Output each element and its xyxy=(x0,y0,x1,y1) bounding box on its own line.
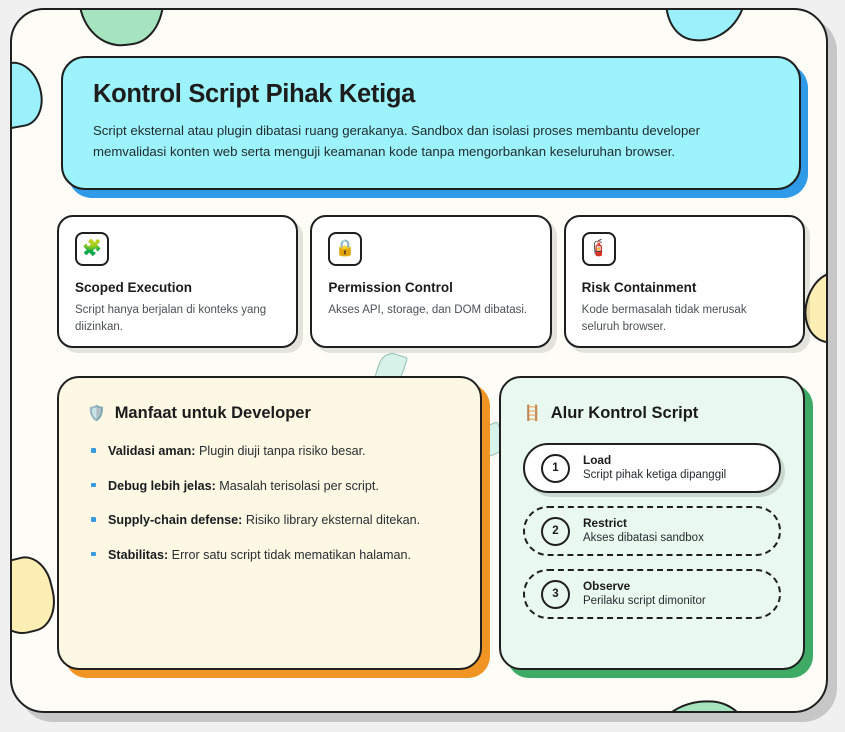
page-subtitle: Script eksternal atau plugin dibatasi ru… xyxy=(93,120,748,163)
flow-heading: 🪜 Alur Kontrol Script xyxy=(523,404,781,423)
poster-frame: Kontrol Script Pihak Ketiga Script ekste… xyxy=(10,8,828,713)
decoration-green-bottom xyxy=(650,697,751,713)
decoration-cyan-left xyxy=(10,58,47,133)
step-label: Load xyxy=(583,453,726,468)
benefits-heading: 🛡️ Manfaat untuk Developer xyxy=(87,404,452,423)
decoration-green-top xyxy=(77,8,169,50)
list-item: Stabilitas: Error satu script tidak mema… xyxy=(87,547,452,565)
feature-card-risk-containment: 🧯 Risk Containment Kode bermasalah tidak… xyxy=(564,215,805,348)
feature-card-permission-control: 🔒 Permission Control Akses API, storage,… xyxy=(310,215,551,348)
ladder-icon: 🪜 xyxy=(523,406,542,421)
puzzle-piece-icon: 🧩 xyxy=(75,232,109,266)
step-number-badge: 2 xyxy=(541,517,570,546)
step-description: Script pihak ketiga dipanggil xyxy=(583,468,726,483)
page-title: Kontrol Script Pihak Ketiga xyxy=(93,80,769,109)
feature-description: Script hanya berjalan di konteks yang di… xyxy=(75,302,280,335)
decoration-yellow-bottom-left xyxy=(10,551,62,641)
benefit-lead: Supply-chain defense: xyxy=(108,513,242,527)
step-text: Observe Perilaku script dimonitor xyxy=(583,579,706,609)
benefit-rest: Error satu script tidak mematikan halama… xyxy=(168,548,411,562)
flow-step-load: 1 Load Script pihak ketiga dipanggil xyxy=(523,443,781,493)
step-number-badge: 1 xyxy=(541,454,570,483)
step-label: Restrict xyxy=(583,516,704,531)
step-text: Load Script pihak ketiga dipanggil xyxy=(583,453,726,483)
feature-card-row: 🧩 Scoped Execution Script hanya berjalan… xyxy=(57,215,805,348)
list-item: Debug lebih jelas: Masalah terisolasi pe… xyxy=(87,478,452,496)
feature-description: Akses API, storage, dan DOM dibatasi. xyxy=(328,302,533,319)
flow-step-restrict: 2 Restrict Akses dibatasi sandbox xyxy=(523,506,781,556)
benefit-lead: Stabilitas: xyxy=(108,548,168,562)
shield-icon: 🛡️ xyxy=(87,406,106,421)
benefit-lead: Validasi aman: xyxy=(108,444,196,458)
step-text: Restrict Akses dibatasi sandbox xyxy=(583,516,704,546)
feature-title: Permission Control xyxy=(328,280,533,295)
list-item: Supply-chain defense: Risiko library eks… xyxy=(87,512,452,530)
lock-icon: 🔒 xyxy=(328,232,362,266)
benefit-lead: Debug lebih jelas: xyxy=(108,479,216,493)
benefits-list: Validasi aman: Plugin diuji tanpa risiko… xyxy=(87,443,452,565)
list-item: Validasi aman: Plugin diuji tanpa risiko… xyxy=(87,443,452,461)
header-banner: Kontrol Script Pihak Ketiga Script ekste… xyxy=(61,56,801,190)
benefit-rest: Masalah terisolasi per script. xyxy=(216,479,379,493)
fire-extinguisher-icon: 🧯 xyxy=(582,232,616,266)
step-label: Observe xyxy=(583,579,706,594)
flow-panel: 🪜 Alur Kontrol Script 1 Load Script piha… xyxy=(499,376,805,670)
flow-step-observe: 3 Observe Perilaku script dimonitor xyxy=(523,569,781,619)
benefit-rest: Plugin diuji tanpa risiko besar. xyxy=(196,444,366,458)
step-number-badge: 3 xyxy=(541,580,570,609)
benefit-rest: Risiko library eksternal ditekan. xyxy=(242,513,420,527)
feature-description: Kode bermasalah tidak merusak seluruh br… xyxy=(582,302,787,335)
benefits-heading-label: Manfaat untuk Developer xyxy=(115,404,311,423)
feature-title: Risk Containment xyxy=(582,280,787,295)
flow-heading-label: Alur Kontrol Script xyxy=(551,404,699,423)
step-description: Perilaku script dimonitor xyxy=(583,594,706,609)
feature-title: Scoped Execution xyxy=(75,280,280,295)
benefits-panel: 🛡️ Manfaat untuk Developer Validasi aman… xyxy=(57,376,482,670)
feature-card-scoped-execution: 🧩 Scoped Execution Script hanya berjalan… xyxy=(57,215,298,348)
step-description: Akses dibatasi sandbox xyxy=(583,531,704,546)
decoration-cyan-top-right xyxy=(661,8,747,47)
